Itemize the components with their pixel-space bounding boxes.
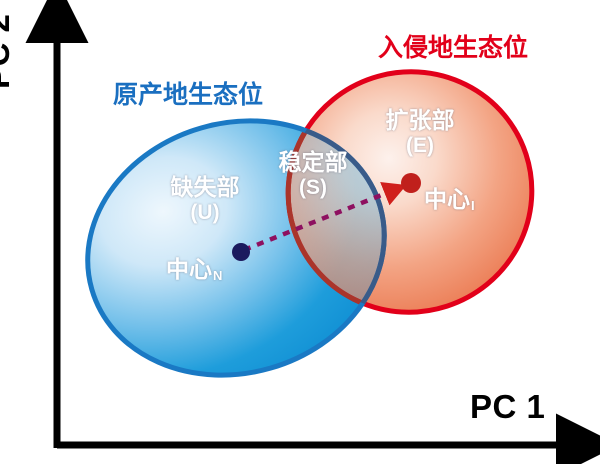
native-centroid-label: 中心N	[166, 250, 221, 284]
native-centroid-point	[232, 243, 250, 261]
y-axis-label: PC 2	[0, 27, 17, 89]
invasive-centroid-text: 中心	[424, 186, 470, 212]
region-label-expansion: 扩张部 (E)	[360, 108, 480, 157]
region-label-unfilled: 缺失部 (U)	[145, 175, 265, 224]
region-label-stable: 稳定部 (S)	[258, 150, 368, 199]
invasive-centroid-label: 中心I	[424, 180, 474, 214]
region-code-stable: (S)	[258, 176, 368, 200]
invasive-niche-title: 入侵地生态位	[378, 28, 528, 64]
region-code-expansion: (E)	[360, 134, 480, 158]
native-centroid-text: 中心	[166, 256, 212, 282]
invasive-centroid-point	[401, 173, 421, 193]
native-centroid-subscript: N	[213, 268, 222, 283]
native-niche-title: 原产地生态位	[113, 75, 263, 111]
region-name-unfilled: 缺失部	[145, 175, 265, 201]
region-code-unfilled: (U)	[145, 201, 265, 225]
figure-canvas: PC 2 PC 1 原产地生态位 入侵地生态位 缺失部 (U) 稳定部 (S) …	[0, 0, 600, 464]
region-name-expansion: 扩张部	[360, 108, 480, 134]
x-axis-label: PC 1	[470, 388, 545, 426]
invasive-centroid-subscript: I	[471, 198, 475, 213]
region-name-stable: 稳定部	[258, 150, 368, 176]
